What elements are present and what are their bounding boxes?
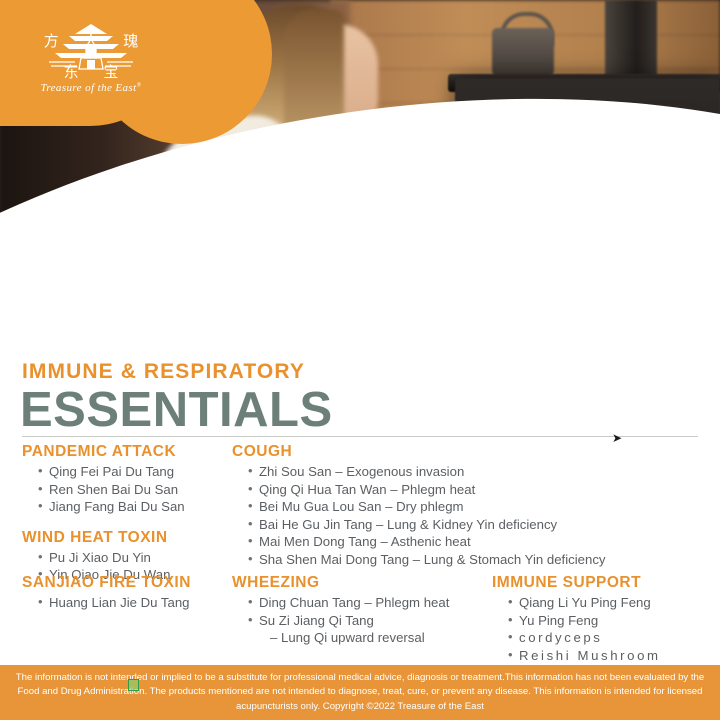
section-heading: COUGH [232,443,606,461]
section-list: Huang Lian Jie Du Tang [22,594,191,612]
section-heading: IMMUNE SUPPORT [492,574,661,592]
list-item-continuation: – Lung Qi upward reversal [248,629,449,647]
list-item: Mai Men Dong Tang – Asthenic heat [248,533,606,551]
section-immune-support: IMMUNE SUPPORT Qiang Li Yu Ping Feng Yu … [492,574,661,677]
section-list: Zhi Sou San – Exogenous invasion Qing Qi… [232,463,606,568]
section-list: Qiang Li Yu Ping Feng Yu Ping Feng cordy… [492,594,661,664]
section-heading: SANJIAO FIRE TOXIN [22,574,191,592]
list-item: Bei Mu Gua Lou San – Dry phlegm [248,498,606,516]
title-divider [22,436,698,437]
list-item: Qing Fei Pai Du Tang [38,463,185,481]
section-heading: WIND HEAT TOXIN [22,529,185,547]
logo-tagline: Treasure of the East® [40,82,141,94]
list-item: Ren Shen Bai Du San [38,481,185,499]
disclaimer-text: The information is not intended or impli… [14,671,706,715]
footer-disclaimer-bar: The information is not intended or impli… [0,665,720,720]
section-sanjiao-fire-toxin: SANJIAO FIRE TOXIN Huang Lian Jie Du Tan… [22,574,191,625]
list-item: Ding Chuan Tang – Phlegm heat [248,594,449,612]
list-item: Qing Qi Hua Tan Wan – Phlegm heat [248,481,606,499]
list-item: Bai He Gu Jin Tang – Lung & Kidney Yin d… [248,516,606,534]
poster: 方 人 瑰 东 宝 Treasure of the East® [0,0,720,720]
list-item: Huang Lian Jie Du Tang [38,594,191,612]
section-list: Ding Chuan Tang – Phlegm heat Su Zi Jian… [232,594,449,647]
list-item: cordyceps [508,629,661,647]
list-item: Jiang Fang Bai Du San [38,498,185,516]
logo-tagline-text: Treasure of the East [40,82,136,94]
text-selection-cursor-icon [128,679,139,691]
list-item: Zhi Sou San – Exogenous invasion [248,463,606,481]
list-item: Yu Ping Feng [508,612,661,630]
section-pandemic-attack: PANDEMIC ATTACK Qing Fei Pai Du Tang Ren… [22,443,185,516]
section-cough: COUGH Zhi Sou San – Exogenous invasion Q… [232,443,606,581]
section-wheezing: WHEEZING Ding Chuan Tang – Phlegm heat S… [232,574,449,660]
section-heading: PANDEMIC ATTACK [22,443,185,461]
poster-subtitle: IMMUNE & RESPIRATORY [22,360,305,384]
brand-logo: 方 人 瑰 东 宝 Treasure of the East® [0,0,182,126]
mouse-cursor-icon: ➤ [612,432,621,445]
pagoda-temple-icon [45,22,137,70]
list-item: Reishi Mushroom [508,647,661,665]
section-list: Qing Fei Pai Du Tang Ren Shen Bai Du San… [22,463,185,516]
list-item: Su Zi Jiang Qi Tang [248,612,449,630]
list-item: Qiang Li Yu Ping Feng [508,594,661,612]
registered-mark: ® [137,82,142,88]
page-title: ESSENTIALS [20,382,333,438]
list-item: Sha Shen Mai Dong Tang – Lung & Stomach … [248,551,606,569]
list-item: Pu Ji Xiao Du Yin [38,549,185,567]
section-heading: WHEEZING [232,574,449,592]
